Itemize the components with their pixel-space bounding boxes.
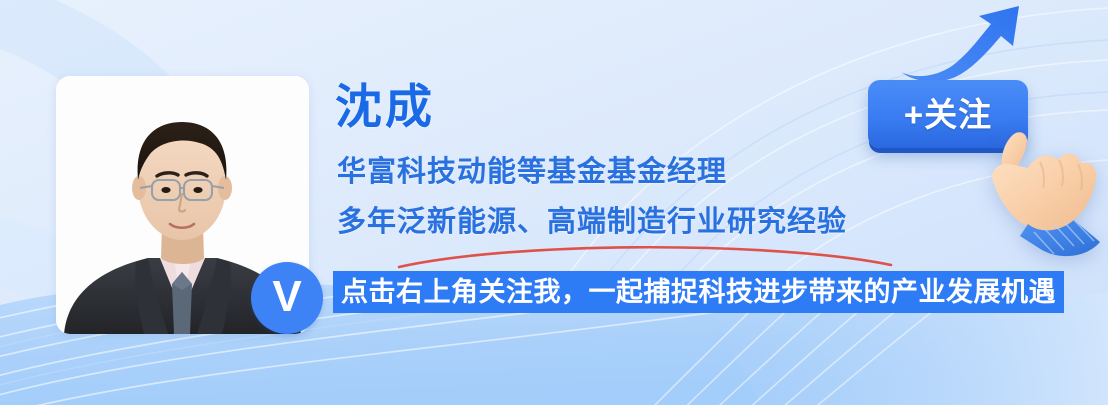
profile-subtitle-role: 华富科技动能等基金基金经理	[337, 155, 727, 190]
growth-arrow-icon	[895, 2, 1025, 84]
red-arc-decoration	[395, 243, 895, 271]
pointing-hand-icon	[958, 110, 1108, 260]
profile-subtitle-experience: 多年泛新能源、高端制造行业研究经验	[337, 205, 847, 240]
verified-badge: V	[251, 262, 323, 334]
profile-name: 沈成	[335, 80, 435, 134]
profile-banner: V 沈成 华富科技动能等基金基金经理 多年泛新能源、高端制造行业研究经验 点击右…	[0, 0, 1108, 405]
cta-banner-text: 点击右上角关注我，一起捕捉科技进步带来的产业发展机遇	[341, 279, 1056, 306]
cta-banner: 点击右上角关注我，一起捕捉科技进步带来的产业发展机遇	[333, 271, 1064, 313]
verified-badge-label: V	[272, 275, 301, 319]
